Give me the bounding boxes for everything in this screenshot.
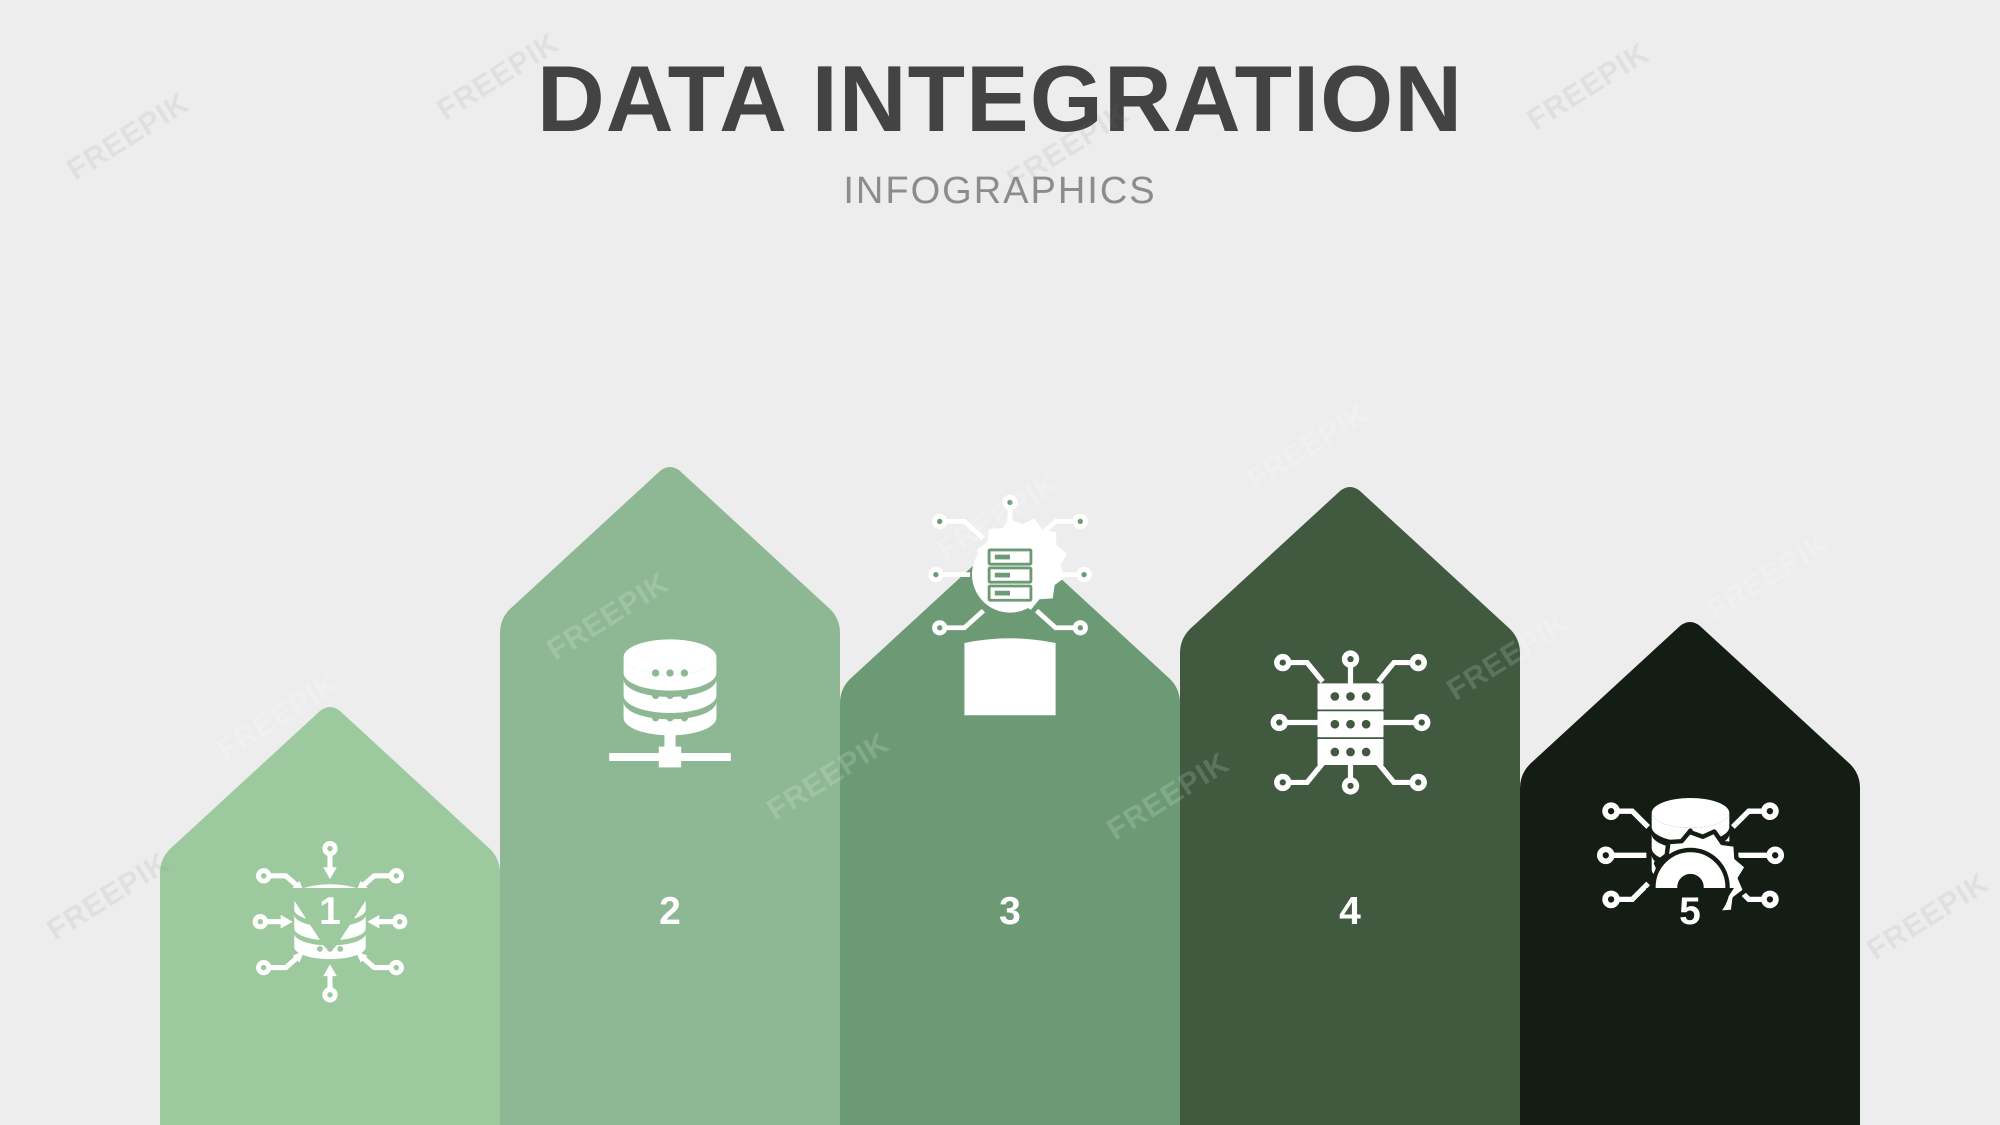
step-4-number: 4: [1302, 888, 1398, 938]
step-5-number: 5: [1642, 888, 1738, 938]
step-1-marker[interactable]: 1: [282, 888, 378, 954]
step-4-marker[interactable]: 4: [1302, 888, 1398, 954]
step-1-number: 1: [282, 888, 378, 938]
step-5-shape[interactable]: [1520, 620, 1860, 1125]
step-3-shape[interactable]: [840, 535, 1180, 1125]
step-5-marker[interactable]: 5: [1642, 888, 1738, 954]
step-5[interactable]: [1520, 620, 1860, 1125]
infographic-canvas: DATA INTEGRATION INFOGRAPHICS: [0, 0, 2000, 1125]
step-3-marker[interactable]: 3: [962, 888, 1058, 954]
step-3-number: 3: [962, 888, 1058, 938]
step-5-label: DATA PROCESSING: [1490, 1000, 1890, 1031]
step-2-marker[interactable]: 2: [622, 888, 718, 954]
step-2-number: 2: [622, 888, 718, 938]
step-3[interactable]: [840, 535, 1180, 1125]
infographic-chart: 1 DATA INTEGRATION: [0, 0, 2000, 1125]
